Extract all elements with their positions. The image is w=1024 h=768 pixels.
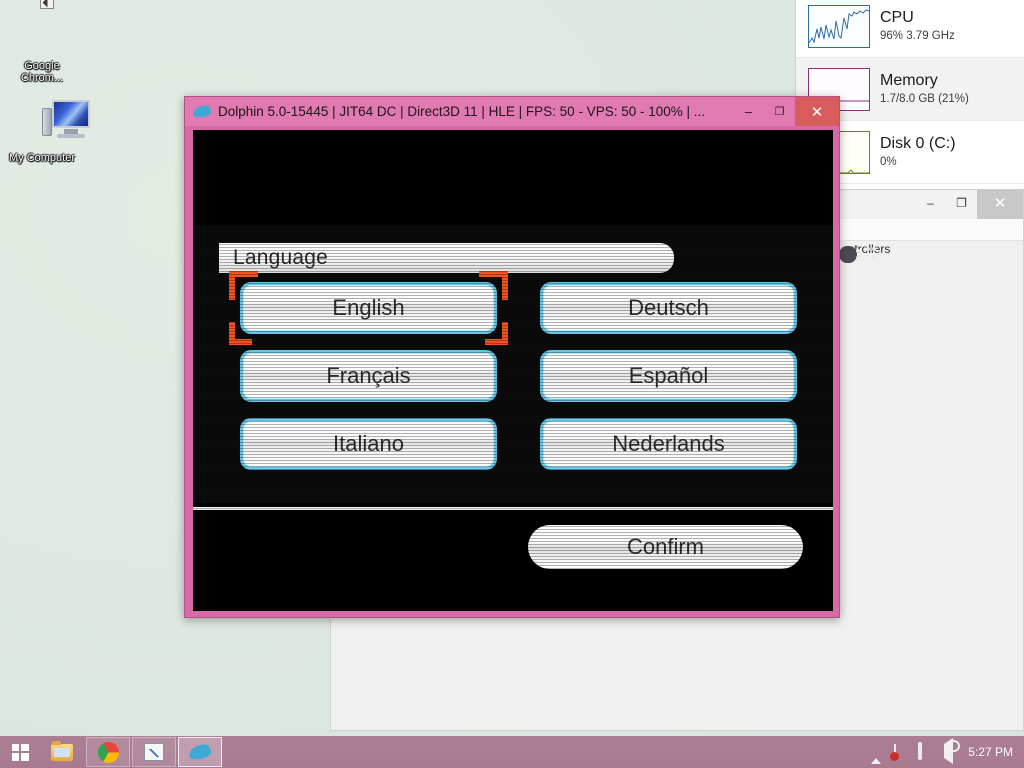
clock[interactable]: 5:27 PM (968, 745, 1013, 759)
desktop-icon-label: My Computer (9, 152, 75, 164)
close-button[interactable]: ✕ (795, 97, 839, 126)
controllers-shortcut[interactable]: ntrollers (829, 242, 909, 256)
window-title: Dolphin 5.0-15445 | JIT64 DC | Direct3D … (218, 104, 733, 119)
windows-logo-icon (12, 744, 29, 761)
language-row: Français Español (240, 350, 798, 402)
task-manager-subtitle: 96% 3.79 GHz (880, 29, 1019, 43)
show-hidden-icons-button[interactable] (868, 744, 884, 760)
language-header: Language (219, 243, 674, 273)
language-button-label: Español (629, 363, 709, 389)
language-button-label: Italiano (333, 431, 404, 457)
close-button[interactable]: ✕ (977, 187, 1023, 219)
language-header-label: Language (219, 246, 328, 270)
language-button-espanol[interactable]: Español (540, 350, 797, 402)
system-tray[interactable]: 5:27 PM (868, 744, 1024, 760)
separator (193, 507, 833, 510)
game-top-band (193, 130, 833, 225)
dolphin-titlebar[interactable]: Dolphin 5.0-15445 | JIT64 DC | Direct3D … (185, 97, 839, 126)
chart-icon (144, 743, 164, 761)
language-grid: English Deutsch Français Español (240, 282, 798, 486)
task-manager-subtitle: 0% (880, 155, 1019, 169)
taskbar-item-chrome[interactable] (86, 737, 130, 767)
network-icon[interactable] (918, 744, 934, 760)
taskbar[interactable]: 5:27 PM (0, 736, 1024, 768)
task-manager-title: Disk 0 (C:) (880, 135, 1019, 153)
chrome-icon (98, 742, 119, 763)
action-center-icon[interactable] (893, 744, 909, 760)
dolphin-window[interactable]: Dolphin 5.0-15445 | JIT64 DC | Direct3D … (184, 96, 840, 618)
desktop-icon-my-computer[interactable]: My Computer (4, 100, 80, 164)
minimize-button[interactable]: – (915, 187, 946, 219)
chrome-icon (4, 8, 80, 56)
maximize-button[interactable]: ❐ (764, 97, 795, 126)
desktop-icon-label: Google Chrom... (21, 60, 63, 84)
task-manager-subtitle: 1.7/8.0 GB (21%) (880, 92, 1019, 106)
language-button-english[interactable]: English (240, 282, 497, 334)
language-button-nederlands[interactable]: Nederlands (540, 418, 797, 470)
language-button-deutsch[interactable]: Deutsch (540, 282, 797, 334)
computer-icon (4, 100, 80, 148)
game-render-surface[interactable]: Language English Deutsch Français (193, 130, 833, 611)
desktop[interactable]: Google Chrom... My Computer – ❐ ✕ ntroll… (0, 0, 1024, 768)
task-manager-title: Memory (880, 72, 1019, 90)
task-manager-title: CPU (880, 9, 1019, 27)
language-row: Italiano Nederlands (240, 418, 798, 470)
confirm-button-label: Confirm (627, 534, 704, 560)
volume-icon[interactable] (943, 744, 959, 760)
maximize-button[interactable]: ❐ (946, 187, 977, 219)
task-manager-row-cpu[interactable]: CPU 96% 3.79 GHz (796, 0, 1024, 58)
taskbar-item-task-manager[interactable] (132, 737, 176, 767)
dolphin-icon (189, 745, 211, 759)
minimize-button[interactable]: – (733, 97, 764, 126)
language-row: English Deutsch (240, 282, 798, 334)
desktop-icon-google-chrome[interactable]: Google Chrom... (4, 8, 80, 84)
language-button-label: Français (326, 363, 410, 389)
language-button-francais[interactable]: Français (240, 350, 497, 402)
language-button-italiano[interactable]: Italiano (240, 418, 497, 470)
language-button-label: Deutsch (628, 295, 709, 321)
language-button-label: English (332, 295, 404, 321)
folder-icon (51, 744, 73, 761)
taskbar-item-file-explorer[interactable] (40, 737, 84, 767)
confirm-button[interactable]: Confirm (528, 525, 803, 569)
dolphin-icon (193, 106, 211, 117)
language-button-label: Nederlands (612, 431, 725, 457)
taskbar-item-dolphin[interactable] (178, 737, 222, 767)
start-button[interactable] (0, 736, 40, 768)
cpu-graph (808, 5, 870, 48)
